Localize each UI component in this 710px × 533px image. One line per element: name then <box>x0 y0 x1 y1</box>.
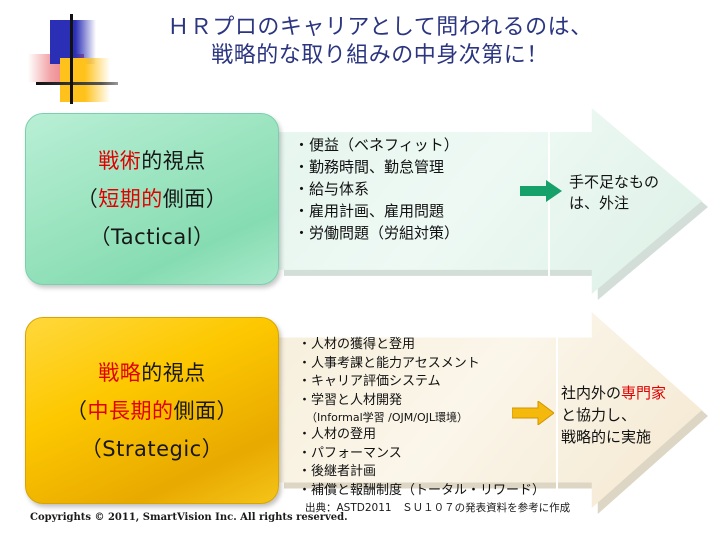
strategic-box-line-2: （中長期的側面） <box>66 396 238 426</box>
tactical-callout-line-2: は、外注 <box>569 193 659 214</box>
tactical-callout-line-1: 手不足なもの <box>569 172 659 193</box>
tactical-box-line-2-open: （ <box>77 187 99 211</box>
list-item: ・勤務時間、勤怠管理 <box>294 156 542 178</box>
strategic-callout-line-2: と協力し、 <box>561 404 666 426</box>
list-item: ・後継者計画 <box>298 463 550 482</box>
strategic-box-line-2-rest: 側面） <box>174 399 239 423</box>
strategic-box-line-2-highlight: 中長期的 <box>88 399 174 423</box>
slide-canvas: ＨＲプロのキャリアとして問われるのは、 戦略的な取り組みの中身次第に！ 戦術的視… <box>0 0 710 533</box>
list-item: ・雇用計画、雇用問題 <box>294 200 542 222</box>
copyright-notice: Copyrights © 2011, SmartVision Inc. All … <box>30 512 348 523</box>
strategic-box-line-2-open: （ <box>66 399 88 423</box>
list-item: ・給与体系 <box>294 178 542 200</box>
strategic-box-line-3: （Strategic） <box>81 434 223 464</box>
tactical-bullet-list: ・便益（ベネフィット） ・勤務時間、勤怠管理 ・給与体系 ・雇用計画、雇用問題 … <box>286 128 550 282</box>
logo-vertical-rule <box>70 14 73 104</box>
strategic-concept-box: 戦略的視点 （中長期的側面） （Strategic） <box>25 317 279 504</box>
slide-title: ＨＲプロのキャリアとして問われるのは、 戦略的な取り組みの中身次第に！ <box>120 14 640 70</box>
strategic-box-line-1: 戦略的視点 <box>98 358 206 388</box>
strategic-callout-line-1-rest: 社内外の <box>561 384 621 402</box>
tactical-box-line-1-rest: 的視点 <box>141 149 206 173</box>
tactical-concept-box: 戦術的視点 （短期的側面） （Tactical） <box>25 113 279 285</box>
strategic-callout-line-1-highlight: 専門家 <box>621 384 666 402</box>
tactical-box-line-2-highlight: 短期的 <box>98 187 163 211</box>
list-item: ・補償と報酬制度（トータル・リワード） <box>298 482 550 501</box>
strategic-callout-line-3: 戦略的に実施 <box>561 426 666 448</box>
list-item: ・人材の獲得と登用 <box>298 336 550 355</box>
logo-horizontal-rule <box>36 82 118 85</box>
tactical-callout-text: 手不足なもの は、外注 <box>569 172 659 214</box>
tactical-box-line-1: 戦術的視点 <box>98 146 206 176</box>
strategic-callout-line-1: 社内外の専門家 <box>561 382 666 404</box>
tactical-box-line-3: （Tactical） <box>89 222 214 252</box>
tactical-callout: 手不足なもの は、外注 <box>520 172 659 214</box>
tactical-box-line-2-rest: 側面） <box>163 187 228 211</box>
list-item: ・人事考課と能力アセスメント <box>298 355 550 374</box>
slide-title-line-1: ＨＲプロのキャリアとして問われるのは、 <box>120 14 640 42</box>
list-item: ・労働問題（労組対策） <box>294 222 542 244</box>
logo-yellow-block <box>60 58 110 102</box>
smartvision-logo-mark <box>28 14 124 104</box>
list-item: ・便益（ベネフィット） <box>294 134 542 156</box>
strategic-box-line-1-highlight: 戦略 <box>98 361 141 385</box>
source-attribution: 出典：ASTD2011 ＳＵ１０７の発表資料を参考に作成 <box>305 500 570 515</box>
tactical-box-line-2: （短期的側面） <box>77 184 228 214</box>
strategic-callout-text: 社内外の専門家 と協力し、 戦略的に実施 <box>561 382 666 448</box>
right-arrow-icon <box>512 401 554 429</box>
slide-title-line-2: 戦略的な取り組みの中身次第に！ <box>120 42 640 70</box>
tactical-box-line-1-highlight: 戦術 <box>98 149 141 173</box>
strategic-callout: 社内外の専門家 と協力し、 戦略的に実施 <box>512 382 666 448</box>
right-arrow-icon <box>520 180 562 206</box>
strategic-box-line-1-rest: 的視点 <box>141 361 206 385</box>
